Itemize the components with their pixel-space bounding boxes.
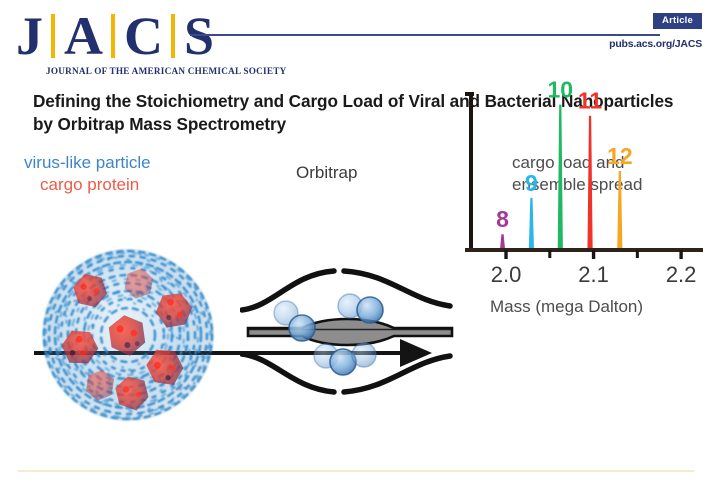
publisher-url[interactable]: pubs.acs.org/JACS xyxy=(609,38,702,50)
spectrum-peak-labels: 89101112 xyxy=(496,80,633,232)
spectrum-svg: 89101112 2.02.12.2 xyxy=(455,80,705,330)
footer-divider-rule xyxy=(18,470,694,472)
legend-virus-like-particle: virus-like particle xyxy=(24,152,151,173)
spectrum-peak xyxy=(500,234,505,250)
mass-spectrum-chart: 89101112 2.02.12.2 xyxy=(455,80,705,330)
jacs-logo: J A C S JOURNAL OF THE AMERICAN CHEMICAL… xyxy=(16,8,306,80)
x-tick-label: 2.2 xyxy=(666,262,697,287)
spectrum-peak xyxy=(529,198,534,250)
x-axis-label: Mass (mega Dalton) xyxy=(490,297,643,317)
spectrum-peak xyxy=(617,171,622,250)
spectrum-axes xyxy=(465,92,703,259)
spectrum-peaks xyxy=(500,105,623,250)
spectrum-peak xyxy=(558,105,563,250)
jacs-logo-letters: J A C S xyxy=(16,8,306,64)
logo-letter-j: J xyxy=(16,9,42,63)
header-divider-rule xyxy=(190,34,660,36)
logo-letter-s: S xyxy=(184,9,213,63)
x-tick-label: 2.0 xyxy=(491,262,522,287)
label-orbitrap: Orbitrap xyxy=(296,162,357,183)
peak-label: 9 xyxy=(525,170,538,196)
peak-label: 10 xyxy=(548,80,574,103)
spectrum-x-tick-labels: 2.02.12.2 xyxy=(491,262,697,287)
article-type-badge: Article xyxy=(653,13,702,29)
virus-like-particle-illustration xyxy=(28,235,228,435)
logo-letter-c: C xyxy=(124,9,162,63)
legend-cargo-protein: cargo protein xyxy=(40,174,139,195)
spectrum-peak xyxy=(587,116,592,250)
logo-divider-bar-3 xyxy=(171,14,175,58)
peak-label: 11 xyxy=(578,88,603,114)
logo-letter-a: A xyxy=(64,9,102,63)
x-tick-label: 2.1 xyxy=(578,262,609,287)
orbitrap-schematic xyxy=(240,250,460,400)
logo-divider-bar-2 xyxy=(111,14,115,58)
vlp-svg xyxy=(28,235,228,435)
orbitrap-svg xyxy=(240,250,460,400)
journal-full-name: JOURNAL OF THE AMERICAN CHEMICAL SOCIETY xyxy=(46,66,286,76)
jacs-article-page: J A C S JOURNAL OF THE AMERICAN CHEMICAL… xyxy=(0,0,710,500)
peak-label: 12 xyxy=(607,143,633,169)
logo-divider-bar-1 xyxy=(51,14,55,58)
peak-label: 8 xyxy=(496,206,509,232)
journal-header: J A C S JOURNAL OF THE AMERICAN CHEMICAL… xyxy=(0,0,710,86)
